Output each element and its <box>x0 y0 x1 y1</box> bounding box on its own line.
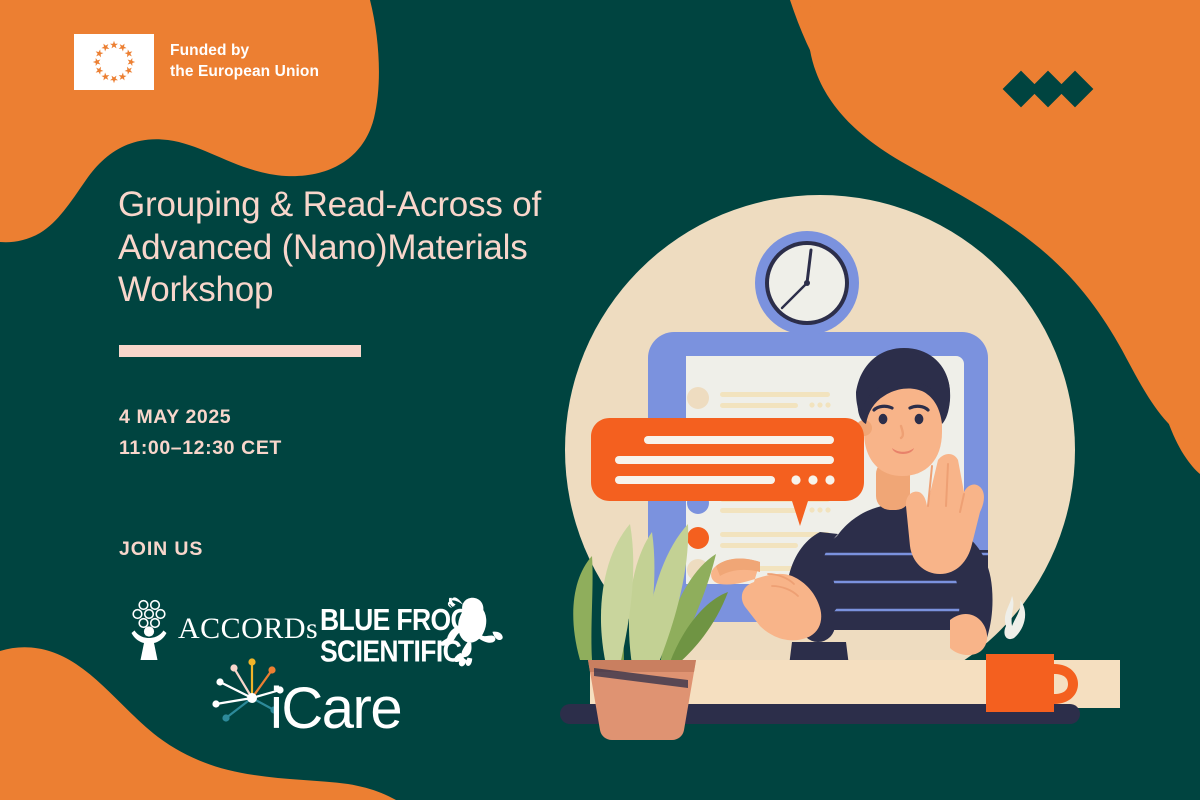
join-us-label: JOIN US <box>119 538 203 561</box>
eu-funding-line1: Funded by <box>170 41 319 62</box>
eu-funding-line2: the European Union <box>170 62 319 83</box>
accords-wordmark: ACCORDs <box>178 612 318 645</box>
accords-figure-icon <box>132 626 167 660</box>
event-date: 4 MAY 2025 <box>119 402 282 433</box>
eu-funding-label: Funded by the European Union <box>170 41 319 82</box>
title-divider-rule <box>119 345 361 357</box>
poster-canvas: Funded by the European Union Grouping & … <box>0 0 1200 800</box>
event-time: 11:00–12:30 CET <box>119 433 282 464</box>
presenter-eye-right <box>915 414 924 424</box>
bluefrog-wordmark-line1: BLUE FROG <box>320 603 471 637</box>
wall-clock-icon <box>755 231 859 335</box>
chat-bubble-dot <box>808 475 817 484</box>
icare-wordmark: iCare <box>270 676 401 734</box>
mug-body <box>986 654 1054 712</box>
logo-icare: iCare <box>208 656 468 734</box>
webinar-illustration <box>520 160 1120 760</box>
event-datetime: 4 MAY 2025 11:00–12:30 CET <box>119 402 282 464</box>
logo-accords: ACCORDs <box>126 598 326 662</box>
eu-flag-icon <box>74 34 154 90</box>
chat-bubble-dot <box>825 475 834 484</box>
accords-mark-icon <box>133 601 165 628</box>
presenter-eye-left <box>879 414 888 424</box>
partner-logos: ACCORDs BLUE FROG SCIENTIFIC <box>112 592 532 732</box>
clock-center-pin <box>804 280 810 286</box>
eu-funding-badge: Funded by the European Union <box>74 34 319 90</box>
diamond-decoration-group <box>1003 71 1094 108</box>
chat-bubble-dot <box>791 475 800 484</box>
